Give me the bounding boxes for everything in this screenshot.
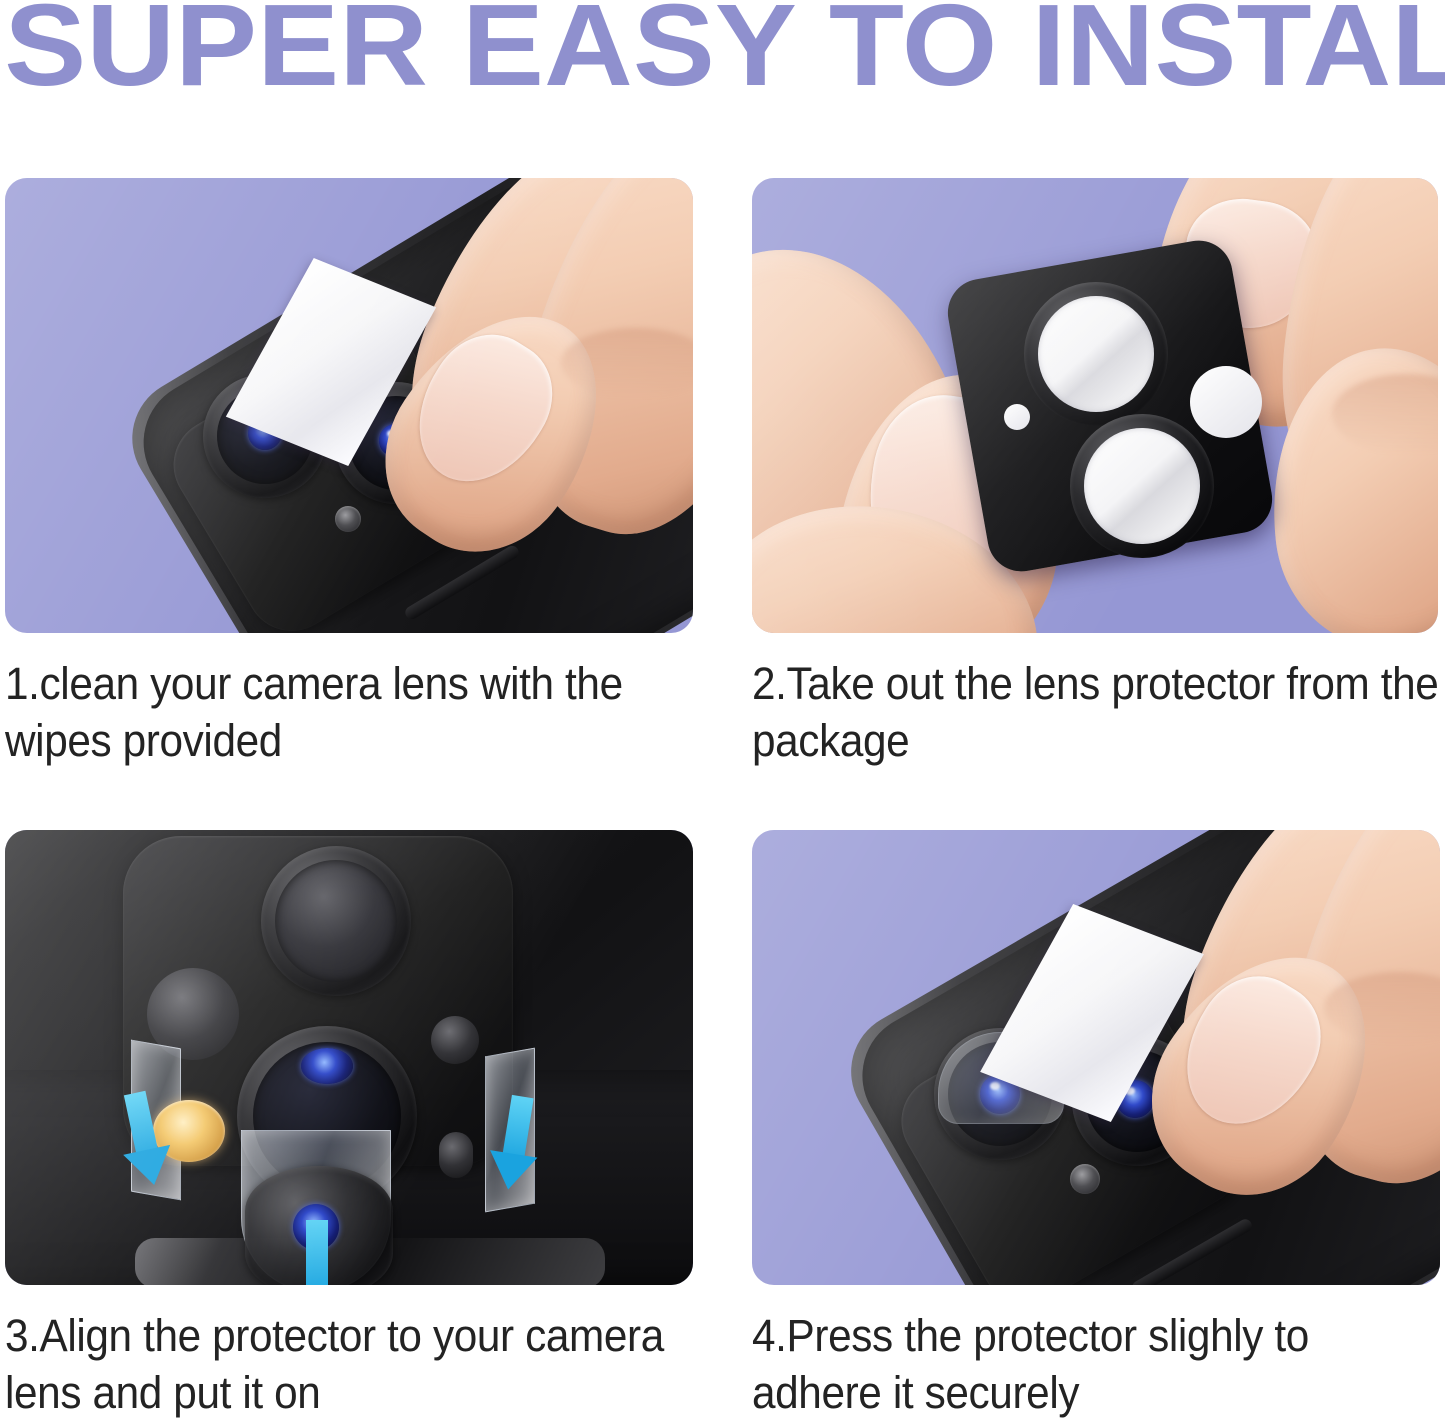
camera-lens-glass (275, 860, 397, 982)
arrow-head (123, 1145, 177, 1190)
scene-clean-lens (5, 178, 693, 633)
step-1-caption: 1.clean your camera lens with the wipes … (5, 655, 696, 769)
step-3: 3.Align the protector to your camera len… (5, 830, 693, 1421)
scene-take-out-protector (752, 178, 1438, 633)
step-2-caption: 2.Take out the lens protector from the p… (752, 655, 1443, 769)
protector-flash-hole (1190, 366, 1262, 438)
protector-lens-glass (1038, 296, 1154, 412)
scene-align-protector (5, 830, 693, 1285)
step-3-photo (5, 830, 693, 1285)
step-1: 1.clean your camera lens with the wipes … (5, 178, 693, 769)
page-title: SUPER EASY TO INSTALL (0, 0, 1445, 104)
step-2-photo (752, 178, 1438, 633)
step-2: 2.Take out the lens protector from the p… (752, 178, 1440, 769)
camera-flash (335, 506, 361, 532)
step-4-caption: 4.Press the protector slighly to adhere … (752, 1307, 1443, 1421)
step-4: 4.Press the protector slighly to adhere … (752, 830, 1440, 1421)
camera-microphone (439, 1132, 473, 1178)
arrow-shaft (502, 1095, 534, 1162)
arrow-head (484, 1150, 537, 1193)
instruction-steps-grid: 1.clean your camera lens with the wipes … (0, 178, 1445, 1420)
camera-sensor-dot (431, 1016, 479, 1064)
step-4-photo (752, 830, 1440, 1285)
alignment-arrow-center (293, 1220, 341, 1285)
protector-mic-hole (1004, 404, 1030, 430)
scene-press-protector (752, 830, 1440, 1285)
protector-lens-glass (1084, 428, 1200, 544)
arrow-shaft (306, 1220, 328, 1285)
camera-lens-blue-reflection (301, 1048, 353, 1084)
step-1-photo (5, 178, 693, 633)
camera-flash (1070, 1164, 1100, 1194)
step-3-caption: 3.Align the protector to your camera len… (5, 1307, 696, 1421)
